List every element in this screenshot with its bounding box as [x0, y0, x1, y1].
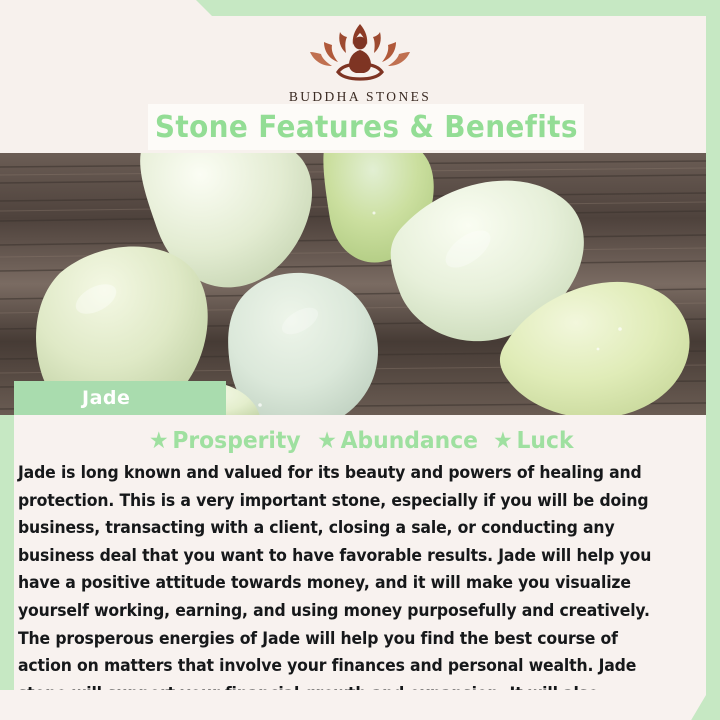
lotus-meditation-icon [298, 18, 422, 84]
page-title: Stone Features & Benefits [155, 110, 578, 145]
brand-logo: BUDDHA STONES [0, 18, 720, 105]
title-banner: Stone Features & Benefits [148, 104, 584, 150]
infographic-page: BUDDHA STONES Stone Features & Benefits [0, 0, 720, 720]
benefit-item-luck: ★Luck [493, 428, 573, 454]
star-icon: ★ [149, 428, 169, 454]
stone-name-band: Jade [14, 381, 226, 415]
benefit-label: Luck [516, 428, 573, 454]
benefit-label: Prosperity [172, 428, 300, 454]
brand-name: BUDDHA STONES [289, 89, 431, 105]
stone-name-label: Jade [82, 387, 130, 409]
benefit-label: Abundance [340, 428, 477, 454]
star-icon: ★ [493, 428, 513, 454]
bottom-angled-edge [0, 690, 720, 720]
star-icon: ★ [317, 428, 337, 454]
benefits-list: ★Prosperity ★Abundance ★Luck [14, 428, 706, 454]
jade-stones-photo [0, 153, 706, 415]
photo-illustration [0, 153, 706, 415]
benefit-item-abundance: ★Abundance [317, 428, 478, 454]
benefit-item-prosperity: ★Prosperity [149, 428, 301, 454]
frame-right-green-band [704, 0, 720, 720]
description-text: Jade is long known and valued for its be… [18, 459, 671, 720]
